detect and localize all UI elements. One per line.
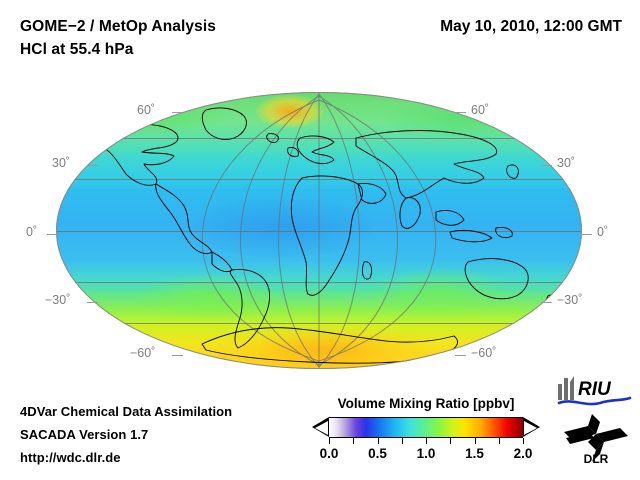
colorbar-tick	[378, 438, 379, 444]
colorbar-tick	[329, 438, 330, 444]
colorbar-tick	[499, 438, 500, 444]
dlr-wordmark: DLR	[584, 452, 609, 464]
colorbar-tick	[426, 438, 427, 444]
lat-tick-left-30s	[87, 302, 98, 303]
riu-towers-icon	[558, 376, 574, 400]
colorbar-tick	[450, 438, 451, 444]
colorbar-tick-label: 1.0	[417, 446, 436, 461]
colorbar: Volume Mixing Ratio [ppbv] 0.00.51.01.52…	[312, 396, 540, 464]
lat-tick-left-0	[47, 234, 58, 235]
footer-version-label: SACADA Version 1.7	[20, 427, 148, 442]
colorbar-extend-left-fill	[315, 421, 328, 435]
colorbar-gradient	[329, 417, 523, 438]
lat-tick-right-60s	[455, 355, 466, 356]
colorbar-tick	[402, 438, 403, 444]
coastline-overlay	[56, 92, 582, 369]
lat-tick-right-0	[581, 234, 592, 235]
lat-tick-right-30n	[541, 165, 552, 166]
lat-label-left-30n: 30˚	[52, 156, 70, 170]
colorbar-tick-label: 0.5	[368, 446, 387, 461]
page-title: GOME−2 / MetOp Analysis	[20, 18, 216, 36]
lat-tick-right-60n	[455, 112, 466, 113]
lat-label-left-0: 0˚	[26, 225, 37, 239]
lat-tick-right-30s	[541, 302, 552, 303]
lat-label-right-60n: 60˚	[471, 103, 489, 117]
lat-label-right-30n: 30˚	[557, 156, 575, 170]
colorbar-title: Volume Mixing Ratio [ppbv]	[312, 396, 540, 411]
colorbar-extend-right-fill	[524, 421, 537, 435]
colorbar-tick-label: 0.0	[320, 446, 339, 461]
colorbar-tick-labels: 0.00.51.01.52.0	[312, 446, 540, 464]
lat-label-left-60s: −60˚	[130, 346, 155, 360]
riu-wordmark: RIU	[578, 379, 612, 400]
page-subtitle: HCl at 55.4 hPa	[20, 41, 134, 59]
colorbar-tick	[523, 438, 524, 444]
map-data-layer	[56, 92, 582, 369]
colorbar-tick	[353, 438, 354, 444]
lat-label-left-60n: 60˚	[137, 103, 155, 117]
map-plot	[56, 92, 582, 369]
lat-tick-left-60n	[172, 112, 183, 113]
colorbar-tick-label: 1.5	[465, 446, 484, 461]
dlr-logo: DLR	[562, 412, 632, 464]
timestamp-label: May 10, 2010, 12:00 GMT	[440, 18, 622, 36]
footer-method-label: 4DVar Chemical Data Assimilation	[20, 404, 232, 419]
footer-url-link[interactable]: http://wdc.dlr.de	[20, 450, 121, 465]
lat-label-right-60s: −60˚	[471, 346, 496, 360]
riu-logo: RIU	[556, 374, 632, 408]
colorbar-tick-label: 2.0	[514, 446, 533, 461]
colorbar-tick	[475, 438, 476, 444]
lat-label-right-0: 0˚	[597, 225, 608, 239]
colorbar-ticks	[312, 438, 540, 445]
lat-tick-left-60s	[172, 355, 183, 356]
lat-tick-left-30n	[87, 165, 98, 166]
lat-label-left-30s: −30˚	[45, 293, 70, 307]
colorbar-scale	[312, 417, 540, 438]
lat-label-right-30s: −30˚	[557, 293, 582, 307]
